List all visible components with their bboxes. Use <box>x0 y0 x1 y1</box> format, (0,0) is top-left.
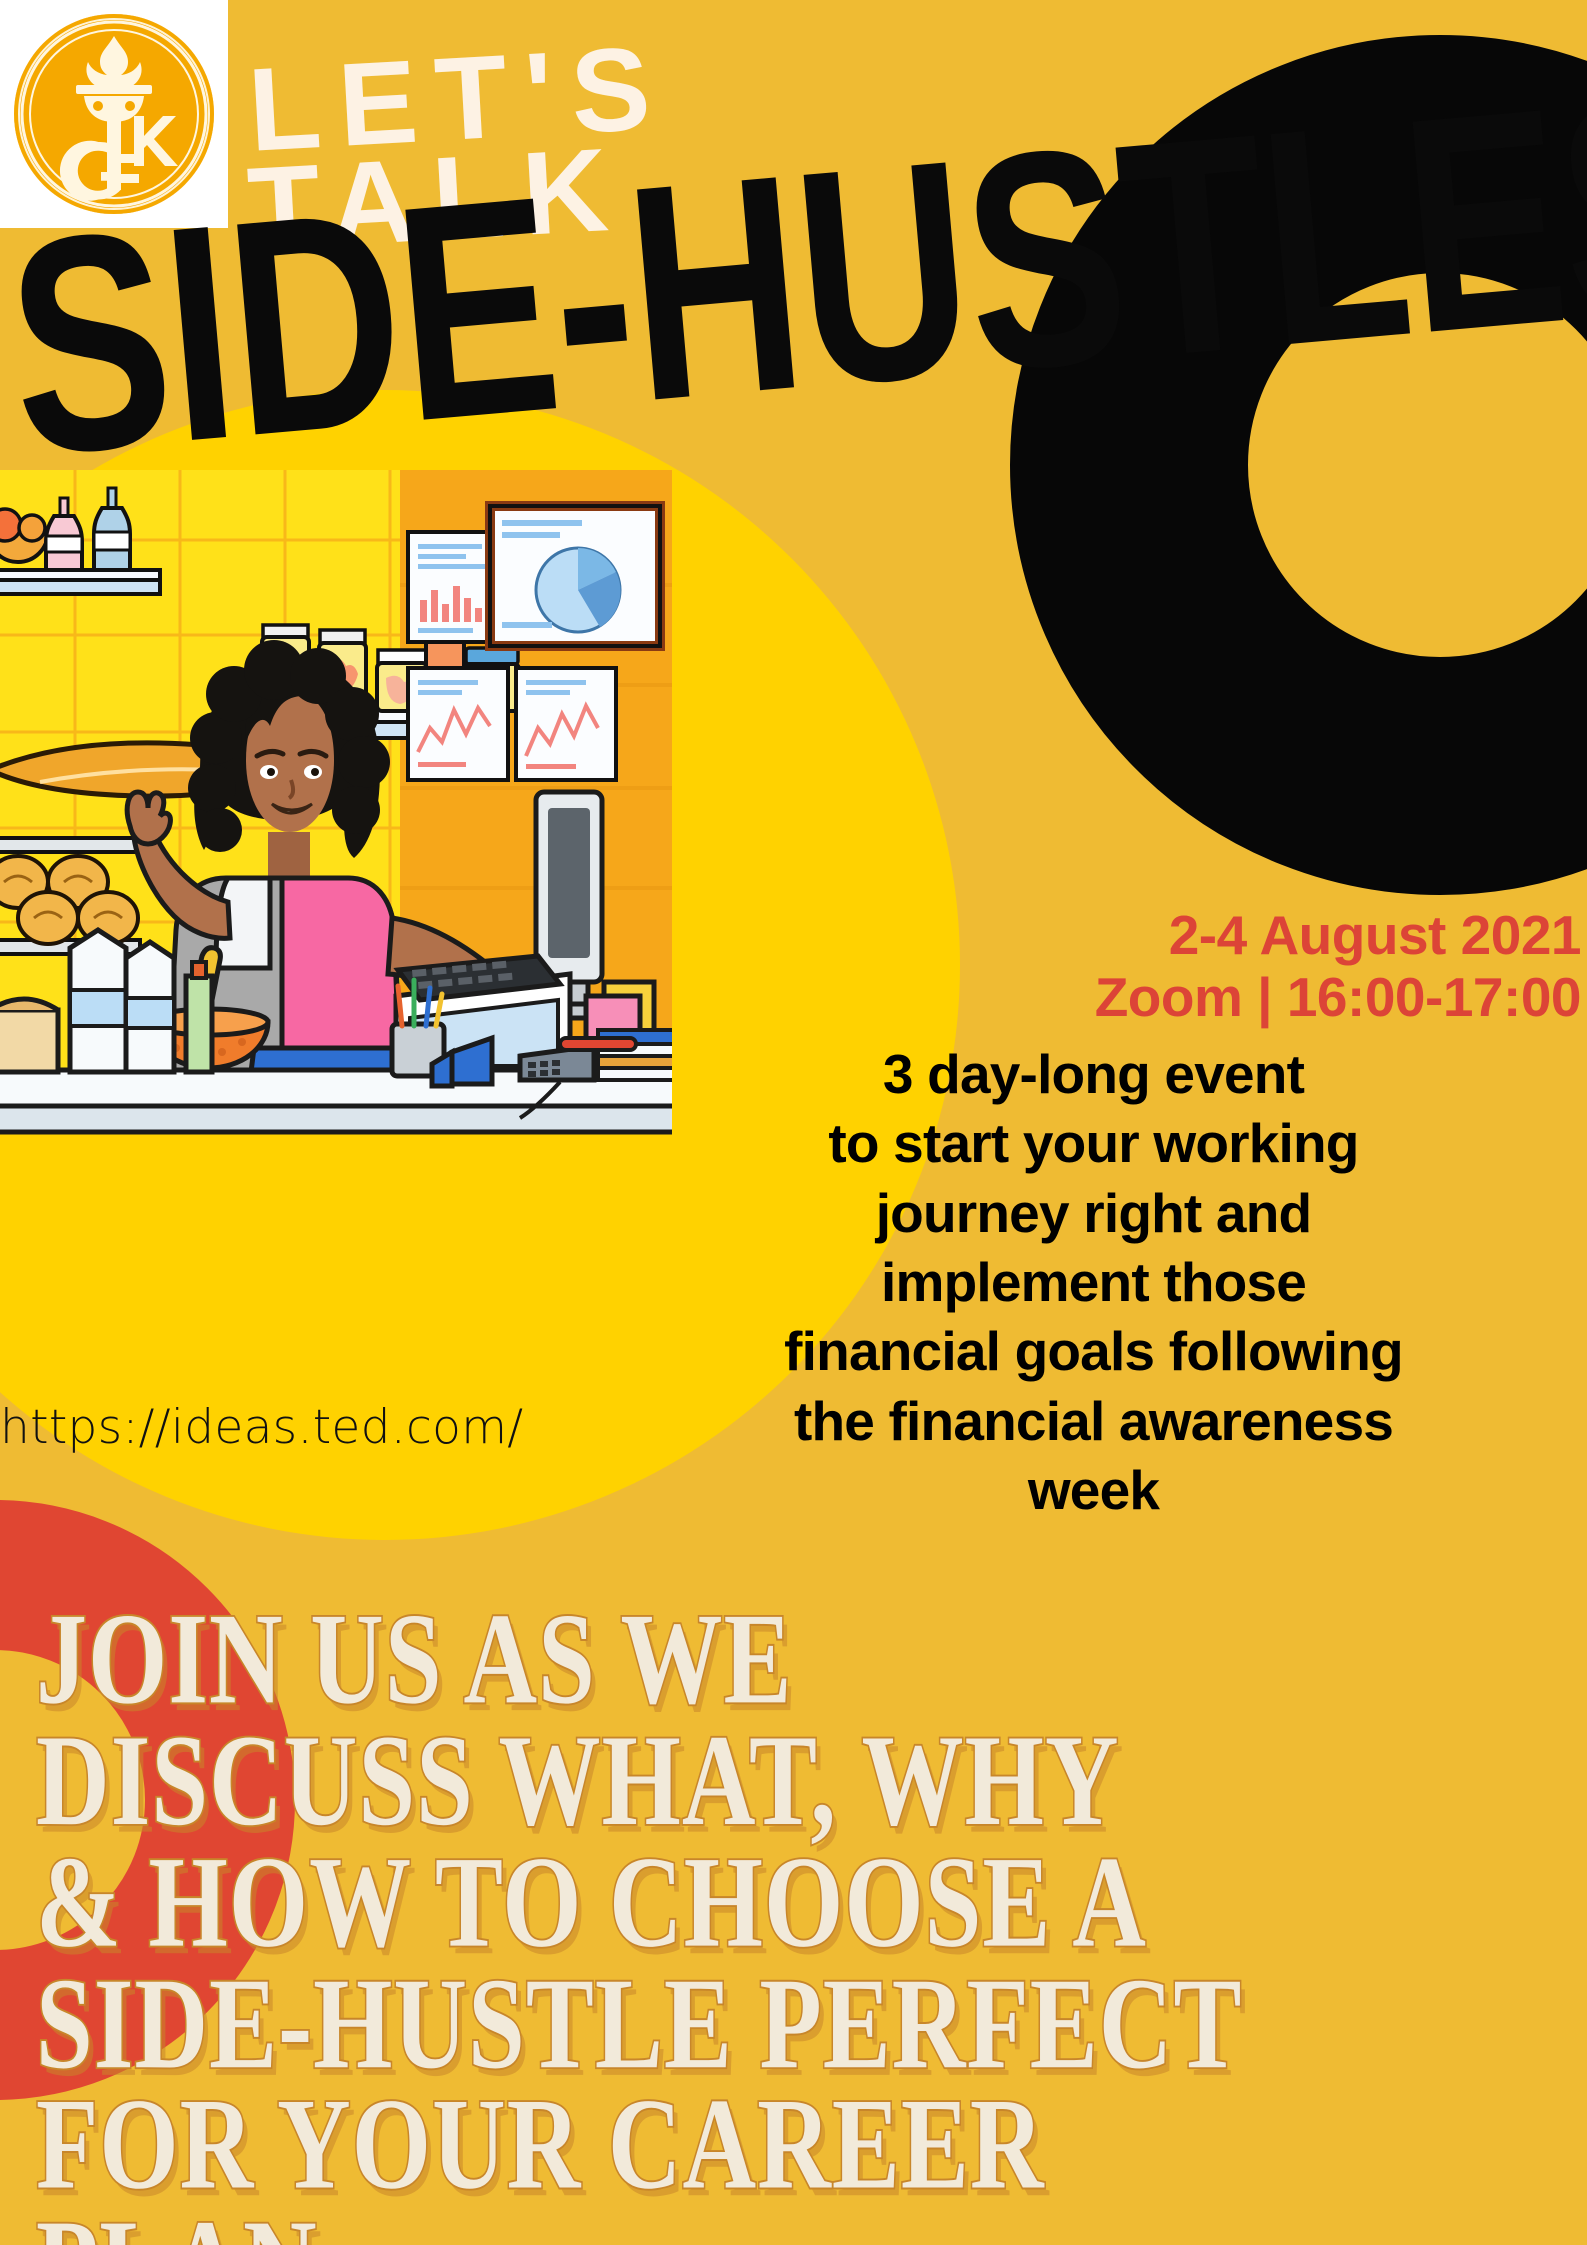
cta-line: FOR YOUR CAREER <box>36 2086 1556 2207</box>
woman-baker-at-computer-illustration <box>0 470 672 1390</box>
event-description-line: week <box>600 1456 1587 1525</box>
cta-line: DISCUSS WHAT, WHY <box>36 1721 1556 1842</box>
event-platform-time: Zoom | 16:00-17:00 <box>600 967 1581 1029</box>
cta-line: SIDE-HUSTLE PERFECT <box>36 1964 1556 2085</box>
event-info-block: 2-4 August 2021 Zoom | 16:00-17:00 3 day… <box>600 905 1587 1525</box>
cta-headline: JOIN US AS WE DISCUSS WHAT, WHY & HOW TO… <box>36 1600 1556 2245</box>
event-description-line: to start your working <box>600 1109 1587 1178</box>
event-description: 3 day-long event to start your working j… <box>600 1040 1587 1525</box>
source-url[interactable]: https://ideas.ted.com/ <box>0 1400 523 1455</box>
event-description-line: 3 day-long event <box>600 1040 1587 1109</box>
poster-canvas: LET'S TALK SIDE-HUSTLES <box>0 0 1587 2245</box>
cta-line: & HOW TO CHOOSE A <box>36 1843 1556 1964</box>
cta-line: JOIN US AS WE <box>36 1600 1556 1721</box>
event-description-line: financial goals following <box>600 1317 1587 1386</box>
event-description-line: the financial awareness <box>600 1387 1587 1456</box>
event-description-line: implement those <box>600 1248 1587 1317</box>
event-dates: 2-4 August 2021 <box>600 905 1581 967</box>
event-when: 2-4 August 2021 Zoom | 16:00-17:00 <box>600 905 1587 1028</box>
event-description-line: journey right and <box>600 1179 1587 1248</box>
